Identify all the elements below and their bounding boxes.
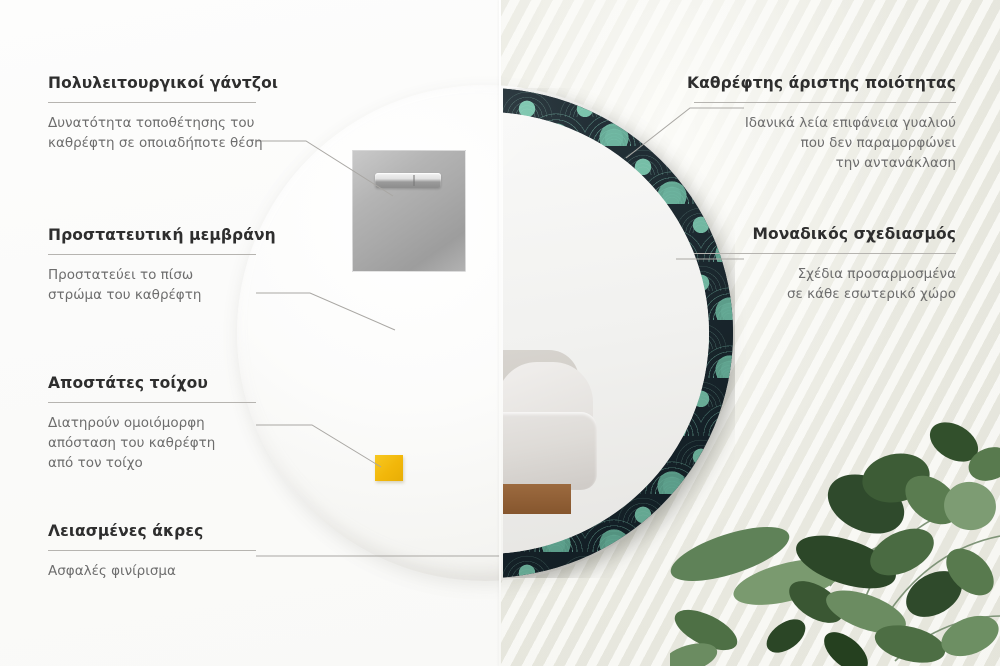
panel-divider (499, 0, 501, 666)
foliage-branch-icon (670, 386, 1000, 666)
callout-edges: Λειασμένες άκρες Ασφαλές φινίρισμα (48, 522, 256, 581)
callout-spacers: Αποστάτες τοίχου Διατηρούν ομοιόμορφη απ… (48, 374, 256, 473)
callout-rule (48, 402, 256, 403)
callout-desc-edges: Ασφαλές φινίρισμα (48, 561, 256, 581)
callout-desc-hooks: Δυνατότητα τοποθέτησης του καθρέφτη σε ο… (48, 113, 278, 154)
callout-rule (48, 254, 256, 255)
callout-unique-design: Μοναδικός σχεδιασμός Σχέδια προσαρμοσμέν… (694, 225, 956, 304)
callout-desc-spacers: Διατηρούν ομοιόμορφη απόσταση του καθρέφ… (48, 413, 256, 474)
callout-membrane: Προστατευτική μεμβράνη Προστατεύει το πί… (48, 226, 276, 305)
callout-quality-mirror: Καθρέφτης άριστης ποιότητας Ιδανικά λεία… (687, 74, 956, 173)
hanging-plate-hardware (352, 150, 466, 272)
callout-rule (48, 102, 256, 103)
callout-desc-quality-mirror: Ιδανικά λεία επιφάνεια γυαλιού που δεν π… (687, 113, 956, 174)
callout-hooks: Πολυλειτουργικοί γάντζοι Δυνατότητα τοπο… (48, 74, 278, 153)
callout-desc-unique-design: Σχέδια προσαρμοσμένα σε κάθε εσωτερικό χ… (694, 264, 956, 305)
callout-rule (694, 253, 956, 254)
callout-desc-membrane: Προστατεύει το πίσω στρώμα του καθρέφτη (48, 265, 276, 306)
callout-title-spacers: Αποστάτες τοίχου (48, 374, 256, 393)
callout-title-quality-mirror: Καθρέφτης άριστης ποιότητας (687, 74, 956, 93)
callout-title-edges: Λειασμένες άκρες (48, 522, 256, 541)
hanging-slot (375, 173, 441, 188)
callout-rule (48, 550, 256, 551)
callout-rule (694, 102, 956, 103)
callout-title-unique-design: Μοναδικός σχεδιασμός (694, 225, 956, 244)
product-feature-infographic: Πολυλειτουργικοί γάντζοι Δυνατότητα τοπο… (0, 0, 1000, 666)
callout-title-hooks: Πολυλειτουργικοί γάντζοι (48, 74, 278, 93)
yellow-spacer (375, 455, 403, 481)
callout-title-membrane: Προστατευτική μεμβράνη (48, 226, 276, 245)
